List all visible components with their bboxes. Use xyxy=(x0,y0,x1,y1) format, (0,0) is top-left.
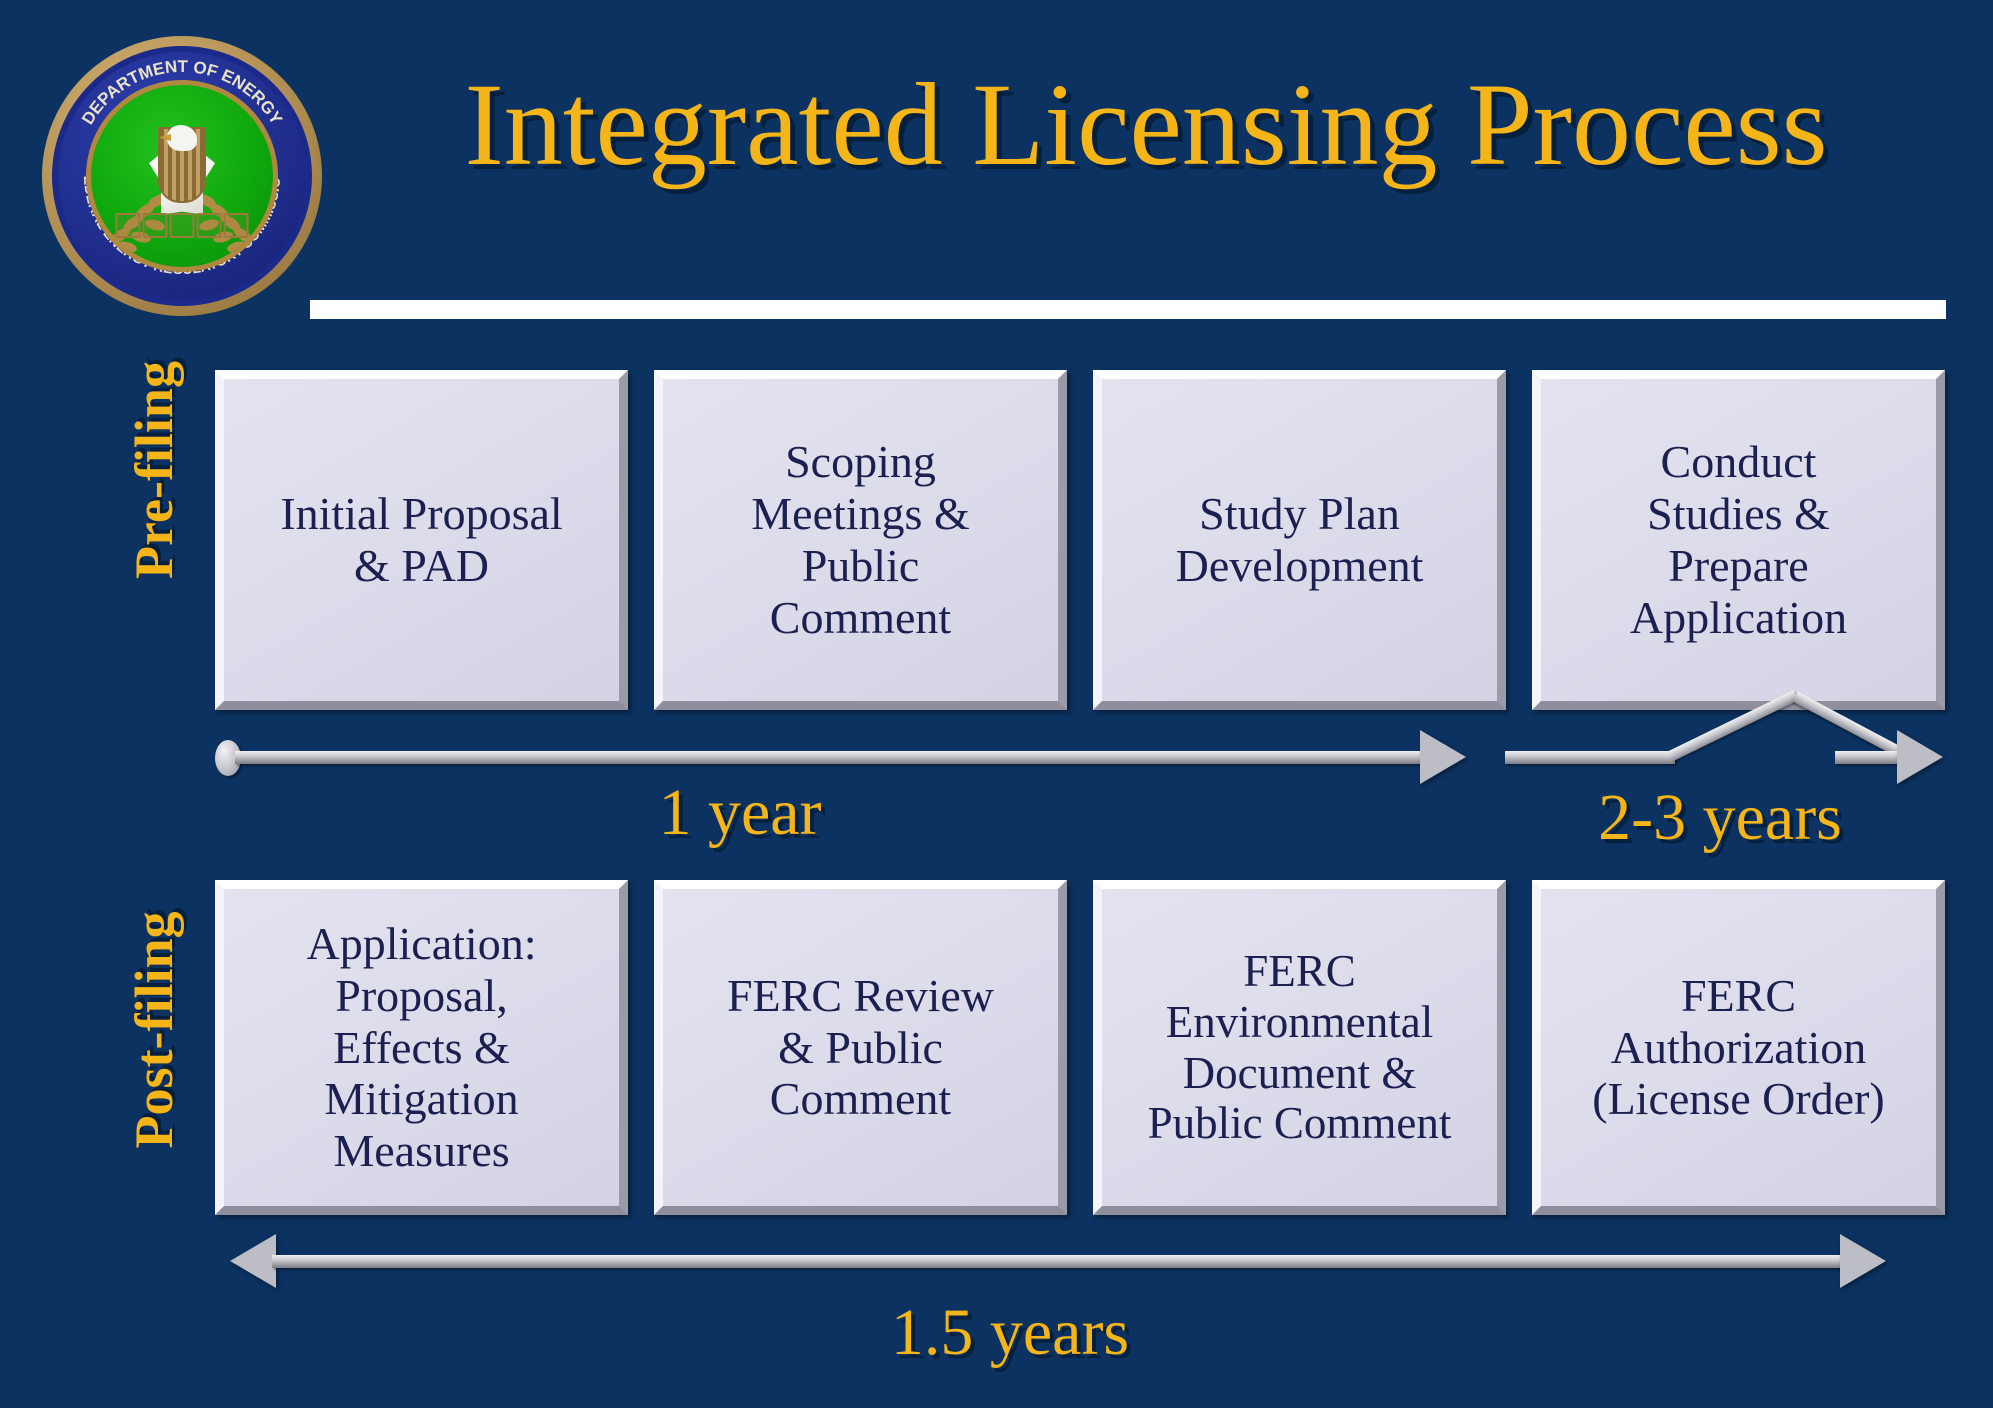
arrow-head-right-icon xyxy=(1420,730,1466,784)
duration-label-one-year: 1 year xyxy=(440,780,1040,846)
process-box-ferc-environmental-document[interactable]: FERC Environmental Document & Public Com… xyxy=(1093,880,1506,1215)
eagle-head-icon xyxy=(167,125,197,151)
duration-label-one-point-five-years: 1.5 years xyxy=(630,1300,1390,1366)
seal-symbol-boxes xyxy=(116,213,249,238)
prefiling-step-row: Initial Proposal & PAD Scoping Meetings … xyxy=(215,370,1945,710)
process-box-label: FERC Authorization (License Order) xyxy=(1588,970,1888,1126)
seal-symbol-box-1 xyxy=(116,213,141,238)
ferc-seal: DEPARTMENT OF ENERGY FEDERAL ENERGY REGU… xyxy=(42,36,322,316)
process-box-label: Study Plan Development xyxy=(1172,488,1428,592)
arrow-head-right-icon xyxy=(1840,1234,1886,1288)
process-box-label: Scoping Meetings & Public Comment xyxy=(747,436,973,644)
process-box-label: FERC Review & Public Comment xyxy=(723,970,998,1126)
process-box-ferc-authorization[interactable]: FERC Authorization (License Order) xyxy=(1532,880,1945,1215)
duration-label-two-three-years: 2-3 years xyxy=(1500,785,1940,851)
slide-canvas: DEPARTMENT OF ENERGY FEDERAL ENERGY REGU… xyxy=(0,0,1993,1408)
arrow-shaft-left xyxy=(1505,751,1675,764)
process-box-scoping-meetings[interactable]: Scoping Meetings & Public Comment xyxy=(654,370,1067,710)
process-box-application[interactable]: Application: Proposal, Effects & Mitigat… xyxy=(215,880,628,1215)
process-box-label: FERC Environmental Document & Public Com… xyxy=(1144,946,1456,1149)
arrow-head-left-icon xyxy=(230,1234,276,1288)
title-underline-rule xyxy=(310,300,1946,319)
process-box-conduct-studies[interactable]: Conduct Studies & Prepare Application xyxy=(1532,370,1945,710)
process-box-study-plan-development[interactable]: Study Plan Development xyxy=(1093,370,1506,710)
process-box-label: Application: Proposal, Effects & Mitigat… xyxy=(303,918,541,1178)
seal-symbol-box-2 xyxy=(143,213,168,238)
seal-symbol-box-5 xyxy=(224,213,249,238)
phase-label-post-filing: Post-filing xyxy=(127,855,187,1205)
process-box-label: Initial Proposal & PAD xyxy=(276,488,566,592)
phase-label-pre-filing: Pre-filing xyxy=(127,310,187,630)
seal-green-field xyxy=(91,85,273,267)
arrow-shaft-right xyxy=(1835,751,1905,764)
arrow-shaft xyxy=(272,1255,1842,1268)
seal-symbol-box-4 xyxy=(197,213,222,238)
process-box-ferc-review[interactable]: FERC Review & Public Comment xyxy=(654,880,1067,1215)
duration-arrow-one-point-five-years xyxy=(230,1240,1930,1300)
seal-symbol-box-3 xyxy=(170,213,195,238)
arrow-shaft xyxy=(235,751,1425,764)
process-box-label: Conduct Studies & Prepare Application xyxy=(1626,436,1851,644)
slide-title: Integrated Licensing Process xyxy=(336,66,1956,184)
process-box-initial-proposal[interactable]: Initial Proposal & PAD xyxy=(215,370,628,710)
arrow-head-right-icon xyxy=(1897,730,1943,784)
postfiling-step-row: Application: Proposal, Effects & Mitigat… xyxy=(215,880,1945,1215)
